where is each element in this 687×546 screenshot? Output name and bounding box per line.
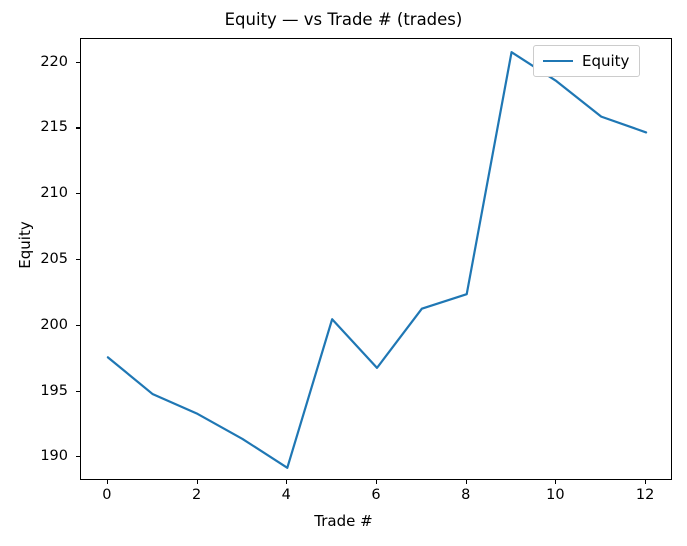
- y-tick-label: 220: [8, 54, 68, 70]
- legend-line-swatch-equity: [543, 60, 573, 62]
- chart-figure: Equity — vs Trade # (trades) 19019520020…: [0, 0, 687, 546]
- chart-title: Equity — vs Trade # (trades): [0, 10, 687, 29]
- x-tick-label: 12: [636, 487, 654, 503]
- x-axis-label: Trade #: [0, 512, 687, 530]
- legend-label-equity: Equity: [582, 52, 629, 70]
- x-tick-label: 2: [192, 487, 201, 503]
- x-tick-label: 8: [461, 487, 470, 503]
- equity-line-series: [81, 39, 673, 481]
- x-tick-label: 6: [371, 487, 380, 503]
- x-tick-label: 0: [102, 487, 111, 503]
- legend: Equity: [533, 45, 640, 77]
- x-tick-label: 4: [282, 487, 291, 503]
- y-tick-label: 195: [8, 383, 68, 399]
- plot-area: [80, 38, 672, 480]
- y-axis-label: Equity: [16, 125, 34, 365]
- y-tick-label: 190: [8, 448, 68, 464]
- x-tick-label: 10: [546, 487, 564, 503]
